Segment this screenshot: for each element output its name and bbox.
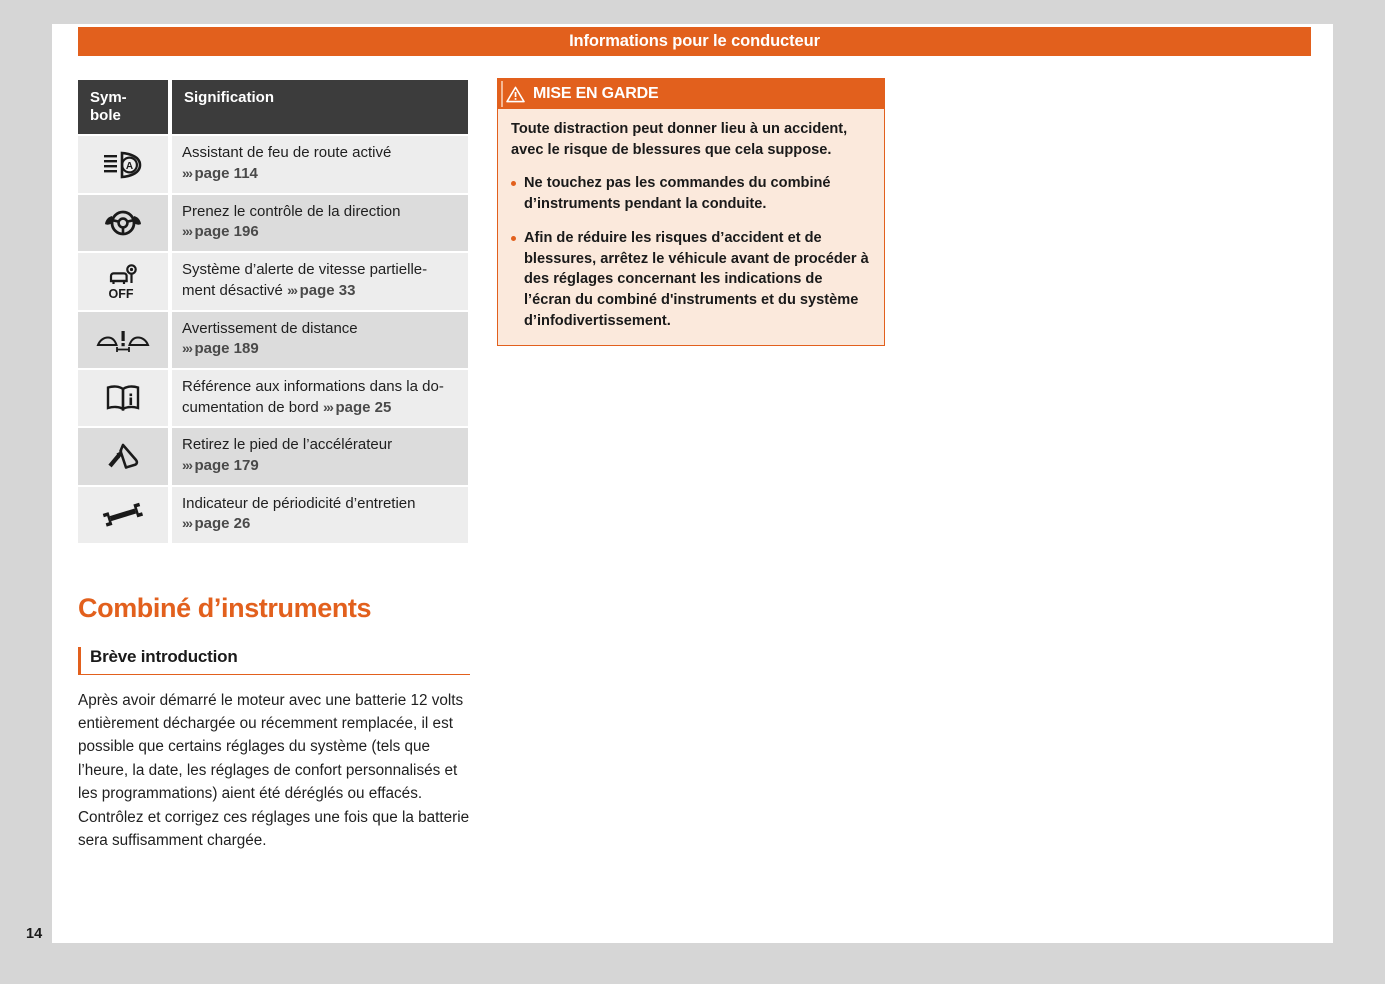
warning-bullet-item: Afin de réduire les risques d’accident e…	[511, 228, 871, 332]
chevron-icon: ›››	[182, 165, 192, 181]
table-header-row: Sym- bole Signification	[78, 80, 468, 134]
warning-box-header: MISE EN GARDE	[498, 79, 884, 109]
column-header-signification: Signification	[172, 80, 468, 134]
table-row: A Assistant de feu de route activé ›››pa…	[78, 136, 468, 192]
take-control-steering-icon	[99, 203, 147, 243]
column-header-symbole-line2: bole	[90, 107, 121, 124]
chevron-icon: ›››	[182, 223, 192, 239]
section-title: Combiné d’instruments	[78, 594, 470, 624]
meaning-cell: Prenez le contrôle de la direction ›››pa…	[172, 195, 468, 251]
high-beam-assist-icon: A	[99, 145, 147, 185]
warning-box-body: Toute distraction peut donner lieu à un …	[498, 109, 884, 345]
onboard-documentation-icon	[99, 378, 147, 418]
speed-alert-off-icon: OFF	[99, 259, 147, 303]
left-column: Sym- bole Signification	[78, 78, 468, 545]
symbol-cell	[78, 370, 168, 426]
meaning-cell: Référence aux informations dans la do-cu…	[172, 370, 468, 426]
page-reference: ›››page 26	[182, 515, 250, 532]
chevron-icon: ›››	[323, 399, 333, 415]
column-header-symbole-line1: Sym-	[90, 89, 127, 106]
meaning-text: Indicateur de périodicité d’entretien	[182, 495, 415, 512]
running-header-title: Informations pour le conducteur	[78, 27, 1311, 56]
meaning-cell: Avertissement de distance ›››page 189	[172, 312, 468, 368]
table-header: Sym- bole Signification	[78, 80, 468, 134]
svg-text:OFF: OFF	[109, 287, 134, 301]
page-reference: ›››page 114	[182, 165, 258, 182]
page-number: 14	[26, 926, 42, 942]
symbol-cell	[78, 195, 168, 251]
symbol-meaning-table: Sym- bole Signification	[78, 78, 468, 545]
chevron-icon: ›››	[182, 515, 192, 531]
table-body: A Assistant de feu de route activé ›››pa…	[78, 136, 468, 543]
meaning-text: Référence aux informations dans la do-cu…	[182, 378, 444, 416]
symbol-cell	[78, 487, 168, 543]
warning-box-title: MISE EN GARDE	[533, 85, 658, 103]
wrench-service-icon	[96, 498, 150, 532]
warning-triangle-icon	[506, 86, 525, 103]
table-row: Avertissement de distance ›››page 189	[78, 312, 468, 368]
meaning-cell: Indicateur de périodicité d’entretien ››…	[172, 487, 468, 543]
meaning-text: Avertissement de distance	[182, 320, 358, 337]
warning-box: MISE EN GARDE Toute distraction peut don…	[497, 78, 885, 346]
meaning-cell: Système d’alerte de vitesse partielle-me…	[172, 253, 468, 309]
warning-intro-text: Toute distraction peut donner lieu à un …	[511, 119, 871, 160]
meaning-text: Prenez le contrôle de la direction	[182, 203, 400, 220]
page-reference: ›››page 196	[182, 223, 259, 240]
chevron-icon: ›››	[287, 282, 297, 298]
page-reference: ›››page 189	[182, 340, 259, 357]
page-reference-label[interactable]: page 25	[335, 399, 391, 416]
meaning-cell: Assistant de feu de route activé ›››page…	[172, 136, 468, 192]
symbol-cell	[78, 428, 168, 484]
content-area: Sym- bole Signification	[78, 78, 1311, 918]
table-row: Référence aux informations dans la do-cu…	[78, 370, 468, 426]
subsection-heading-wrap: Brève introduction	[78, 647, 470, 675]
foot-off-accelerator-icon	[99, 436, 147, 476]
table-row: Retirez le pied de l’accélérateur ›››pag…	[78, 428, 468, 484]
meaning-text: Retirez le pied de l’accélérateur	[182, 436, 392, 453]
page-reference-label[interactable]: page 33	[300, 282, 356, 299]
column-header-symbole: Sym- bole	[78, 80, 168, 134]
table-row: OFF Système d’alerte de vitesse partiell…	[78, 253, 468, 309]
section-block: Combiné d’instruments Brève introduction…	[78, 594, 470, 852]
chevron-icon: ›››	[182, 340, 192, 356]
meaning-text: Assistant de feu de route activé	[182, 144, 391, 161]
page-reference: ›››page 179	[182, 457, 259, 474]
symbol-cell: OFF	[78, 253, 168, 309]
distance-warning-icon	[95, 321, 151, 359]
symbol-cell: A	[78, 136, 168, 192]
chevron-icon: ›››	[182, 457, 192, 473]
page-reference-label[interactable]: page 179	[195, 457, 259, 474]
intro-paragraph: Après avoir démarré le moteur avec une b…	[78, 689, 470, 853]
page-reference: ›››page 25	[323, 399, 391, 416]
table-row: Indicateur de périodicité d’entretien ››…	[78, 487, 468, 543]
page-reference-label[interactable]: page 114	[195, 165, 258, 182]
page-reference-label[interactable]: page 189	[195, 340, 259, 357]
symbol-cell	[78, 312, 168, 368]
running-header-bar: Informations pour le conducteur	[78, 27, 1311, 56]
subsection-title: Brève introduction	[90, 647, 470, 667]
warning-bullet-item: Ne touchez pas les commandes du combiné …	[511, 173, 871, 214]
page-reference: ›››page 33	[287, 282, 355, 299]
svg-text:A: A	[126, 161, 133, 172]
page-reference-label[interactable]: page 196	[195, 223, 259, 240]
meaning-cell: Retirez le pied de l’accélérateur ›››pag…	[172, 428, 468, 484]
table-row: Prenez le contrôle de la direction ›››pa…	[78, 195, 468, 251]
right-column: MISE EN GARDE Toute distraction peut don…	[497, 78, 887, 346]
page-reference-label[interactable]: page 26	[195, 515, 251, 532]
